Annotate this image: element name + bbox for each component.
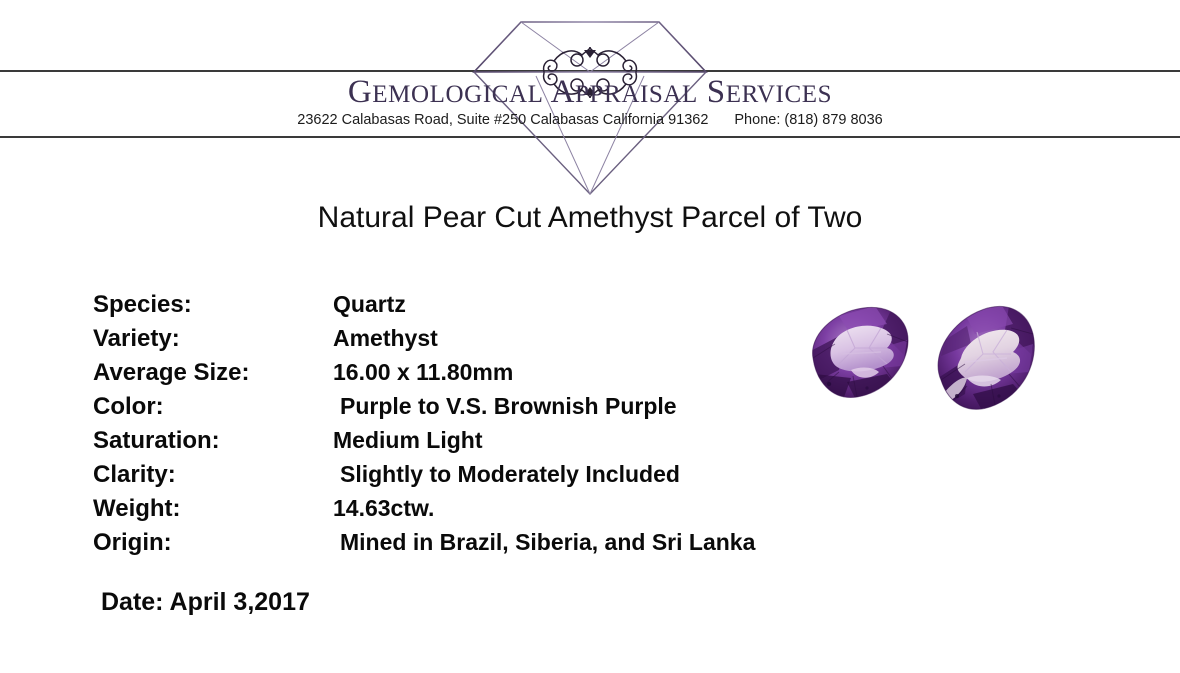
spec-label: Saturation:	[93, 427, 333, 455]
spec-value: Quartz	[333, 291, 406, 318]
spec-row-variety: Variety: Amethyst	[93, 325, 883, 359]
spec-row-weight: Weight: 14.63ctw.	[93, 495, 883, 529]
date-line: Date: April 3,2017	[101, 588, 310, 617]
spec-value: 14.63ctw.	[333, 495, 434, 522]
spec-label: Weight:	[93, 495, 333, 523]
spec-row-origin: Origin: Mined in Brazil, Siberia, and Sr…	[93, 529, 883, 563]
spec-row-clarity: Clarity: Slightly to Moderately Included	[93, 461, 883, 495]
phone-text: Phone: (818) 879 8036	[734, 112, 882, 128]
spec-label: Species:	[93, 291, 333, 319]
company-name-rendered: GEMOLOGICAL APPRAISAL SERVICES	[348, 74, 832, 110]
spec-row-saturation: Saturation: Medium Light	[93, 427, 883, 461]
spec-label: Clarity:	[93, 461, 333, 489]
spec-value: Slightly to Moderately Included	[333, 461, 680, 488]
spec-label: Origin:	[93, 529, 333, 557]
page-title: Natural Pear Cut Amethyst Parcel of Two	[0, 201, 1180, 235]
specification-list: Species: Quartz Variety: Amethyst Averag…	[93, 291, 883, 563]
gem-right	[935, 304, 1039, 416]
spec-row-species: Species: Quartz	[93, 291, 883, 325]
appraisal-certificate: GEMOLOGICAL APPRAISAL SERVICES GEMOLOGIC…	[0, 0, 1180, 673]
spec-row-color: Color: Purple to V.S. Brownish Purple	[93, 393, 883, 427]
contact-line: 23622 Calabasas Road, Suite #250 Calabas…	[0, 112, 1180, 128]
spec-value: 16.00 x 11.80mm	[333, 359, 513, 386]
address-text: 23622 Calabasas Road, Suite #250 Calabas…	[297, 112, 708, 128]
spec-value: Amethyst	[333, 325, 438, 352]
company-name: GEMOLOGICAL APPRAISAL SERVICES GEMOLOGIC…	[0, 74, 1180, 111]
spec-label: Average Size:	[93, 359, 333, 387]
spec-label: Color:	[93, 393, 333, 421]
pear-cut-amethyst-pair-photo	[795, 296, 1050, 424]
spec-label: Variety:	[93, 325, 333, 353]
spec-row-average-size: Average Size: 16.00 x 11.80mm	[93, 359, 883, 393]
spec-value: Purple to V.S. Brownish Purple	[333, 393, 677, 420]
spec-value: Medium Light	[333, 427, 482, 454]
spec-value: Mined in Brazil, Siberia, and Sri Lanka	[333, 529, 755, 556]
gem-left	[809, 306, 913, 402]
